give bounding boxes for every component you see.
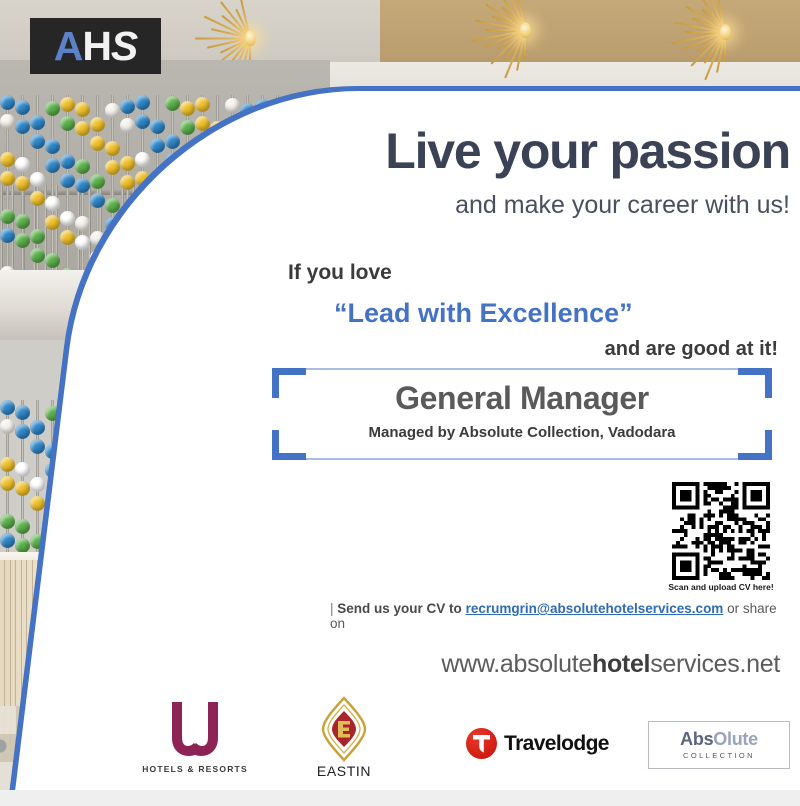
- pitch-line-3: and are good at it!: [300, 338, 778, 361]
- headline-sub: and make your career with us!: [300, 192, 790, 220]
- logo-absolute-wordmark: AbsOlute: [680, 730, 758, 748]
- job-managed-by: Managed by Absolute Collection, Vadodara: [272, 424, 772, 441]
- headline-main: Live your passion: [340, 126, 790, 176]
- job-frame-line-bottom: [272, 458, 772, 460]
- pitch-quote: “Lead with Excellence”: [334, 298, 633, 329]
- logo-absolute-ab: Ab: [680, 729, 703, 749]
- qr-caption: Scan and upload CV here!: [661, 582, 781, 592]
- contact-prefix: Send us your CV to: [337, 601, 462, 616]
- logo-eastin-label: EASTIN: [300, 763, 388, 779]
- logo-absolute-sub: COLLECTION: [683, 751, 755, 760]
- website-url-prefix: www.absolute: [441, 650, 592, 678]
- pitch-line-1: If you love: [288, 261, 392, 285]
- contact-cv-line: | Send us your CV to recrumgrin@absolute…: [330, 601, 780, 631]
- travelodge-circle-icon: [466, 728, 497, 759]
- logo-travelodge-label: Travelodge: [504, 732, 609, 756]
- logo-absolute-tail: lute: [727, 729, 758, 749]
- recruitment-poster: AHS Live your passion and make your care…: [0, 0, 800, 806]
- contact-email-link[interactable]: recrumgrin@absolutehotelservices.com: [466, 601, 724, 616]
- eastin-diamond-icon: [319, 696, 369, 762]
- poster-content: Live your passion and make your career w…: [0, 0, 800, 806]
- job-title: General Manager: [272, 380, 772, 417]
- logo-eastin: EASTIN: [300, 696, 388, 779]
- logo-u-hotels-resorts: HOTELS & RESORTS: [140, 698, 250, 774]
- website-url-suffix: services.net: [650, 650, 780, 678]
- logo-absolute-o: O: [713, 729, 727, 749]
- logo-travelodge: Travelodge: [466, 728, 609, 759]
- website-url[interactable]: www.absolutehotelservices.net: [330, 650, 780, 679]
- logo-absolute-collection: AbsOlute COLLECTION: [648, 721, 790, 769]
- job-frame-line-top: [272, 368, 772, 370]
- qr-block[interactable]: Scan and upload CV here!: [661, 482, 781, 592]
- u-monogram-icon: [164, 698, 226, 760]
- job-title-frame: General Manager Managed by Absolute Coll…: [272, 368, 772, 460]
- website-url-bold: hotel: [592, 650, 650, 678]
- qr-code-icon[interactable]: [661, 482, 781, 580]
- logo-u-label: HOTELS & RESORTS: [140, 764, 250, 774]
- contact-bar: |: [330, 601, 334, 616]
- logo-absolute-s: s: [704, 729, 714, 749]
